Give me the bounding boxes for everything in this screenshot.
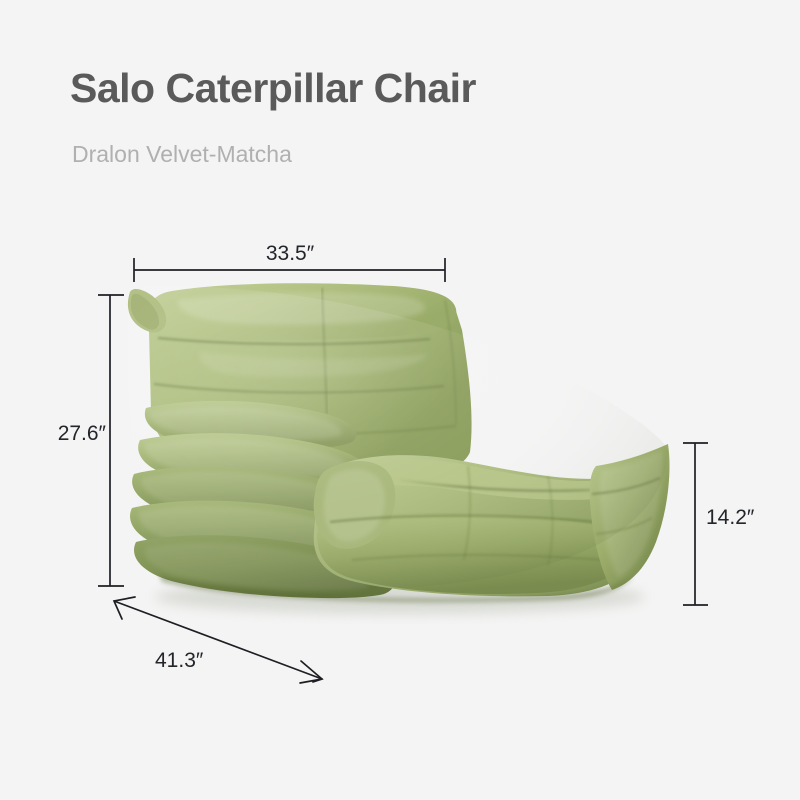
dimension-line-seat-height	[683, 443, 708, 605]
dimension-label-seat-height: 14.2″	[706, 507, 754, 528]
dimension-label-depth: 41.3″	[155, 650, 203, 671]
product-spec-canvas: Salo Caterpillar Chair Dralon Velvet-Mat…	[0, 0, 800, 800]
dimension-label-height: 27.6″	[0, 423, 106, 444]
dimension-label-width: 33.5″	[0, 243, 580, 264]
lounge-chair-icon	[0, 0, 800, 800]
